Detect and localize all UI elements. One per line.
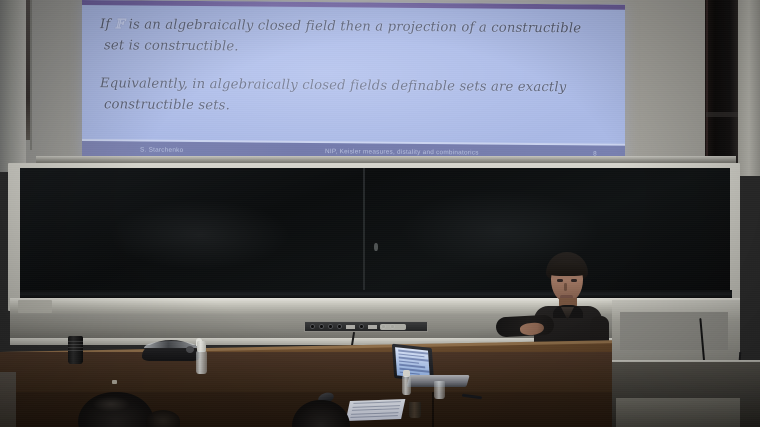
- desk-cup: [409, 402, 421, 418]
- right-dark-pillar: [705, 0, 738, 176]
- left-column-edge-secondary: [30, 0, 32, 150]
- projection-screen: If 𝔽 is an algebraically closed field th…: [82, 0, 625, 163]
- slide-text-equiv-line1: Equivalently, in algebraically closed fi…: [100, 76, 566, 95]
- paper-text-line: [350, 415, 398, 418]
- water-bottle-center: [402, 370, 411, 395]
- ledge-handle[interactable]: [380, 324, 406, 330]
- lecturer-nose: [564, 283, 567, 291]
- control-knob-icon[interactable]: [328, 324, 333, 329]
- control-knob-icon[interactable]: [359, 324, 364, 329]
- bottle-body: [402, 376, 411, 395]
- slide-paragraph-equivalently: Equivalently, in algebraically closed fi…: [100, 73, 609, 119]
- control-knob-icon[interactable]: [319, 324, 324, 329]
- paper-text-line: [352, 405, 400, 408]
- small-desk-object: [112, 380, 117, 384]
- lecture-desk-left-side: [0, 372, 16, 427]
- water-bottle-left: [196, 341, 207, 374]
- projector-lens-icon: [186, 346, 194, 353]
- paper-text-line: [352, 408, 400, 411]
- control-knob-icon[interactable]: [337, 324, 342, 329]
- slide-text-equiv-line2: constructible sets.: [100, 94, 609, 119]
- coffee-cup-ribs: [68, 341, 83, 351]
- right-pillar-notch: [706, 112, 738, 117]
- slide-text-line2: set is constructible.: [100, 35, 609, 60]
- slide-footer-author: S. Starchenko: [82, 146, 325, 155]
- lecturer-eye-left: [557, 279, 563, 282]
- right-pillar-seam: [706, 0, 708, 176]
- left-wall-column: [0, 0, 26, 172]
- lecture-video-frame: If 𝔽 is an algebraically closed field th…: [0, 0, 760, 427]
- paper-text-line: [351, 412, 399, 415]
- av-control-panel[interactable]: [304, 321, 428, 332]
- blackboard-bold-f-symbol: 𝔽: [115, 17, 125, 32]
- blackboard-chalk-smudge: [110, 200, 290, 270]
- paper-text-line: [353, 402, 401, 405]
- chalk-mark: [374, 243, 378, 251]
- slide-text-line1: is an algebraically closed field then a …: [124, 17, 581, 36]
- slide-paragraph-theorem: If 𝔽 is an algebraically closed field th…: [100, 14, 609, 60]
- control-slot-icon: [346, 325, 355, 329]
- slide-text-prefix: If: [100, 17, 115, 32]
- slide-content: If 𝔽 is an algebraically closed field th…: [100, 14, 609, 136]
- audience-head-highlight: [92, 396, 130, 412]
- lecturer-eye-right: [571, 279, 577, 282]
- control-slot-icon: [368, 325, 377, 329]
- papers: [346, 399, 406, 421]
- chalk-tray-block: [18, 300, 52, 313]
- right-wall-strip: [738, 0, 760, 176]
- control-knob-icon[interactable]: [310, 324, 315, 329]
- audience-head: [146, 410, 180, 427]
- blackboard-panel-seam: [363, 168, 365, 298]
- drinking-glass: [434, 381, 445, 399]
- bottle-body: [196, 351, 207, 374]
